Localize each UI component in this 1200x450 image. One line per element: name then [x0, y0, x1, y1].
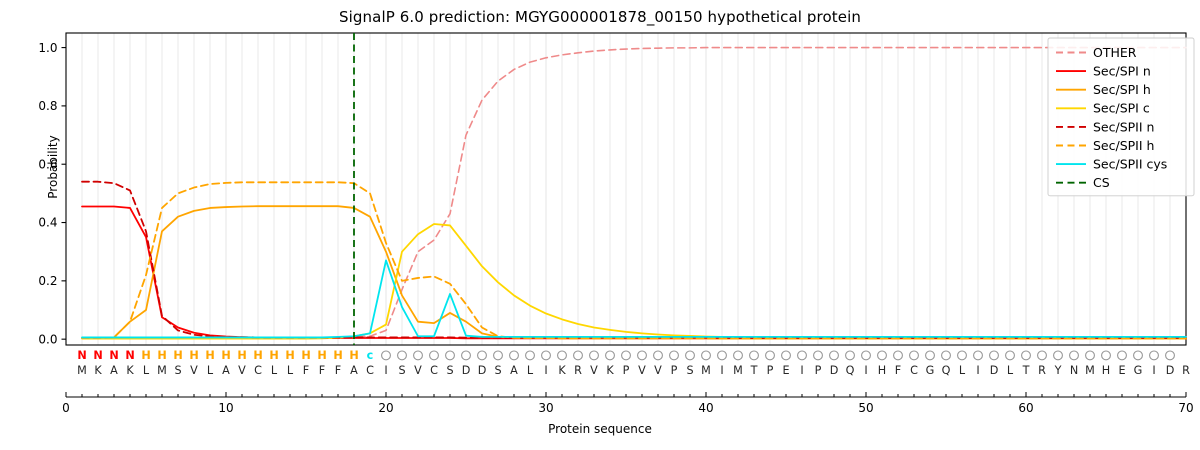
x-axis: 010203040506070: [62, 392, 1193, 415]
region-marker-outside: [446, 351, 455, 360]
region-marker-outside: [462, 351, 471, 360]
sequence-residue: F: [895, 364, 901, 377]
sequence-residue: V: [590, 364, 598, 377]
region-marker-outside: [942, 351, 951, 360]
sequence-residue: G: [926, 364, 935, 377]
region-marker-outside: [1134, 351, 1143, 360]
region-marker-H: H: [285, 349, 294, 362]
sequence-residue: E: [1118, 364, 1125, 377]
sequence-residue: I: [1152, 364, 1155, 377]
region-marker-outside: [1054, 351, 1063, 360]
sequence-residue: V: [190, 364, 198, 377]
series-line-other: [82, 48, 1186, 339]
region-marker-outside: [1086, 351, 1095, 360]
region-marker-outside: [558, 351, 567, 360]
sequence-residue: I: [800, 364, 803, 377]
region-marker-H: H: [173, 349, 182, 362]
region-marker-outside: [398, 351, 407, 360]
plot-canvas: 0.00.20.40.60.81.0MNKNANKNLHMHSHVHLHAHVH…: [0, 0, 1200, 450]
region-marker-outside: [654, 351, 663, 360]
sequence-residue: F: [335, 364, 341, 377]
region-marker-outside: [510, 351, 519, 360]
signalp-plot-figure: SignalP 6.0 prediction: MGYG000001878_00…: [0, 0, 1200, 450]
sequence-residue: Q: [942, 364, 951, 377]
region-marker-outside: [846, 351, 855, 360]
region-marker-outside: [526, 351, 535, 360]
region-marker-H: H: [317, 349, 326, 362]
region-marker-H: H: [253, 349, 262, 362]
region-marker-H: H: [333, 349, 342, 362]
region-marker-c: c: [367, 349, 374, 362]
region-marker-outside: [1006, 351, 1015, 360]
region-marker-outside: [702, 351, 711, 360]
region-marker-outside: [734, 351, 743, 360]
grid-lines: [82, 33, 1186, 345]
x-tick-label: 60: [1018, 401, 1033, 415]
sequence-residue: T: [750, 364, 758, 377]
legend-label-7: CS: [1093, 175, 1110, 190]
region-marker-outside: [1070, 351, 1079, 360]
y-tick-label: 0.4: [38, 216, 57, 230]
sequence-residue: K: [558, 364, 566, 377]
region-marker-H: H: [237, 349, 246, 362]
sequence-residue: M: [701, 364, 711, 377]
sequence-residue: S: [494, 364, 501, 377]
sequence-residue: A: [222, 364, 230, 377]
region-marker-H: H: [205, 349, 214, 362]
series-line-spi_h: [82, 206, 1186, 338]
sequence-residue: S: [174, 364, 181, 377]
sequence-residue: M: [157, 364, 167, 377]
sequence-residue: S: [686, 364, 693, 377]
sequence-residue: N: [1070, 364, 1078, 377]
region-marker-outside: [766, 351, 775, 360]
y-tick-label: 0.2: [38, 274, 57, 288]
series-line-spii_n: [82, 182, 1186, 338]
sequence-residue: M: [77, 364, 87, 377]
region-marker-H: H: [189, 349, 198, 362]
region-marker-outside: [1038, 351, 1047, 360]
region-marker-outside: [814, 351, 823, 360]
region-marker-N: N: [109, 349, 118, 362]
sequence-residue: F: [303, 364, 309, 377]
region-marker-outside: [622, 351, 631, 360]
region-marker-H: H: [269, 349, 278, 362]
region-marker-outside: [862, 351, 871, 360]
sequence-residue: G: [1134, 364, 1143, 377]
sequence-track: MNKNANKNLHMHSHVHLHAHVHCHLHLHFHFHFHAHCcIS…: [77, 349, 1190, 377]
sequence-residue: S: [446, 364, 453, 377]
sequence-residue: I: [720, 364, 723, 377]
sequence-residue: C: [430, 364, 438, 377]
sequence-residue: P: [815, 364, 822, 377]
region-marker-outside: [638, 351, 647, 360]
x-tick-label: 0: [62, 401, 70, 415]
region-marker-outside: [782, 351, 791, 360]
region-marker-outside: [830, 351, 839, 360]
sequence-residue: P: [623, 364, 630, 377]
region-marker-outside: [574, 351, 583, 360]
series-line-spii_cys: [82, 260, 1186, 337]
legend: OTHERSec/SPI nSec/SPI hSec/SPI cSec/SPII…: [1048, 38, 1194, 196]
region-marker-outside: [414, 351, 423, 360]
region-marker-outside: [686, 351, 695, 360]
region-marker-outside: [894, 351, 903, 360]
sequence-residue: L: [271, 364, 278, 377]
sequence-residue: R: [1038, 364, 1046, 377]
sequence-residue: S: [398, 364, 405, 377]
x-tick-label: 70: [1178, 401, 1193, 415]
legend-label-5: Sec/SPII h: [1093, 138, 1154, 153]
sequence-residue: D: [990, 364, 999, 377]
sequence-residue: L: [527, 364, 534, 377]
sequence-residue: E: [782, 364, 789, 377]
region-marker-N: N: [77, 349, 86, 362]
region-marker-outside: [542, 351, 551, 360]
region-marker-outside: [926, 351, 935, 360]
sequence-residue: V: [638, 364, 646, 377]
data-series: [82, 33, 1186, 345]
legend-label-6: Sec/SPII cys: [1093, 157, 1167, 172]
sequence-residue: I: [864, 364, 867, 377]
sequence-residue: I: [544, 364, 547, 377]
y-tick-label: 0.8: [38, 99, 57, 113]
sequence-residue: D: [462, 364, 471, 377]
legend-label-4: Sec/SPII n: [1093, 119, 1154, 134]
x-tick-label: 20: [378, 401, 393, 415]
region-marker-outside: [1118, 351, 1127, 360]
region-marker-H: H: [157, 349, 166, 362]
region-marker-outside: [1166, 351, 1175, 360]
region-marker-outside: [1022, 351, 1031, 360]
region-marker-outside: [494, 351, 503, 360]
sequence-residue: V: [414, 364, 422, 377]
sequence-residue: L: [207, 364, 214, 377]
region-marker-outside: [878, 351, 887, 360]
region-marker-H: H: [221, 349, 230, 362]
sequence-residue: D: [830, 364, 839, 377]
sequence-residue: A: [510, 364, 518, 377]
sequence-residue: K: [606, 364, 614, 377]
region-marker-outside: [958, 351, 967, 360]
sequence-residue: Q: [846, 364, 855, 377]
sequence-residue: C: [254, 364, 262, 377]
sequence-residue: P: [767, 364, 774, 377]
sequence-residue: K: [126, 364, 134, 377]
region-marker-outside: [990, 351, 999, 360]
sequence-residue: K: [94, 364, 102, 377]
sequence-residue: I: [976, 364, 979, 377]
region-marker-outside: [670, 351, 679, 360]
region-marker-N: N: [125, 349, 134, 362]
region-marker-outside: [718, 351, 727, 360]
sequence-residue: I: [384, 364, 387, 377]
y-tick-label: 0.6: [38, 157, 57, 171]
sequence-residue: L: [959, 364, 966, 377]
sequence-residue: L: [143, 364, 150, 377]
legend-label-1: Sec/SPI n: [1093, 64, 1151, 79]
region-marker-H: H: [349, 349, 358, 362]
region-marker-outside: [430, 351, 439, 360]
y-tick-label: 0.0: [38, 332, 57, 346]
series-line-spi_n: [82, 207, 1186, 339]
y-axis: 0.00.20.40.60.81.0: [38, 41, 66, 347]
x-tick-label: 10: [218, 401, 233, 415]
sequence-residue: Y: [1054, 364, 1062, 377]
series-line-spi_c: [82, 224, 1186, 339]
region-marker-outside: [1102, 351, 1111, 360]
sequence-residue: C: [366, 364, 374, 377]
legend-box: [1048, 38, 1194, 196]
region-marker-outside: [910, 351, 919, 360]
sequence-residue: V: [654, 364, 662, 377]
sequence-residue: D: [478, 364, 487, 377]
y-tick-label: 1.0: [38, 41, 57, 55]
sequence-residue: V: [238, 364, 246, 377]
region-marker-outside: [750, 351, 759, 360]
legend-label-2: Sec/SPI h: [1093, 82, 1151, 97]
sequence-residue: H: [878, 364, 886, 377]
sequence-residue: M: [1085, 364, 1095, 377]
x-tick-label: 40: [698, 401, 713, 415]
sequence-residue: L: [287, 364, 294, 377]
sequence-residue: H: [1102, 364, 1110, 377]
region-marker-outside: [798, 351, 807, 360]
region-marker-outside: [974, 351, 983, 360]
sequence-residue: D: [1166, 364, 1175, 377]
legend-label-3: Sec/SPI c: [1093, 101, 1150, 116]
region-marker-outside: [478, 351, 487, 360]
region-marker-outside: [606, 351, 615, 360]
sequence-residue: P: [671, 364, 678, 377]
region-marker-outside: [382, 351, 391, 360]
sequence-residue: R: [1182, 364, 1190, 377]
sequence-residue: M: [733, 364, 743, 377]
sequence-residue: C: [910, 364, 918, 377]
region-marker-N: N: [93, 349, 102, 362]
sequence-residue: L: [1007, 364, 1014, 377]
legend-label-0: OTHER: [1093, 45, 1137, 60]
region-marker-H: H: [301, 349, 310, 362]
region-marker-outside: [1150, 351, 1159, 360]
sequence-residue: F: [319, 364, 325, 377]
region-marker-outside: [590, 351, 599, 360]
sequence-residue: R: [574, 364, 582, 377]
sequence-residue: A: [350, 364, 358, 377]
sequence-residue: T: [1022, 364, 1030, 377]
x-tick-label: 50: [858, 401, 873, 415]
x-tick-label: 30: [538, 401, 553, 415]
region-marker-H: H: [141, 349, 150, 362]
sequence-residue: A: [110, 364, 118, 377]
